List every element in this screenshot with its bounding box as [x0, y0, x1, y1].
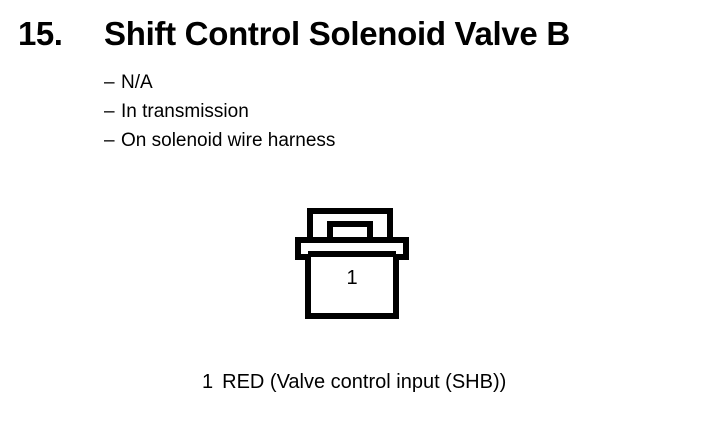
spec-text-availability: N/A: [121, 68, 153, 97]
list-item: – N/A: [104, 68, 664, 97]
heading-item-number: 15.: [18, 14, 62, 54]
dash-bullet-icon: –: [104, 68, 121, 97]
spec-text-harness: On solenoid wire harness: [121, 126, 335, 155]
page-heading: 15. Shift Control Solenoid Valve B: [0, 14, 704, 60]
dash-bullet-icon: –: [104, 126, 121, 155]
connector-diagram: 1: [286, 202, 418, 326]
page-title: Shift Control Solenoid Valve B: [104, 14, 570, 54]
spec-text-location: In transmission: [121, 97, 249, 126]
pin-legend-number: 1: [202, 371, 213, 393]
pin-legend-line: 1RED (Valve control input (SHB)): [202, 369, 506, 395]
list-item: – In transmission: [104, 97, 664, 126]
connector-outline-svg: 1: [286, 202, 418, 326]
dash-bullet-icon: –: [104, 97, 121, 126]
diagram-page: 15. Shift Control Solenoid Valve B – N/A…: [0, 0, 704, 422]
pin-legend: 1RED (Valve control input (SHB)): [0, 369, 704, 395]
connector-pin-number: 1: [346, 267, 357, 289]
pin-legend-description: RED (Valve control input (SHB)): [222, 371, 506, 393]
specification-list: – N/A – In transmission – On solenoid wi…: [104, 68, 664, 155]
list-item: – On solenoid wire harness: [104, 126, 664, 155]
